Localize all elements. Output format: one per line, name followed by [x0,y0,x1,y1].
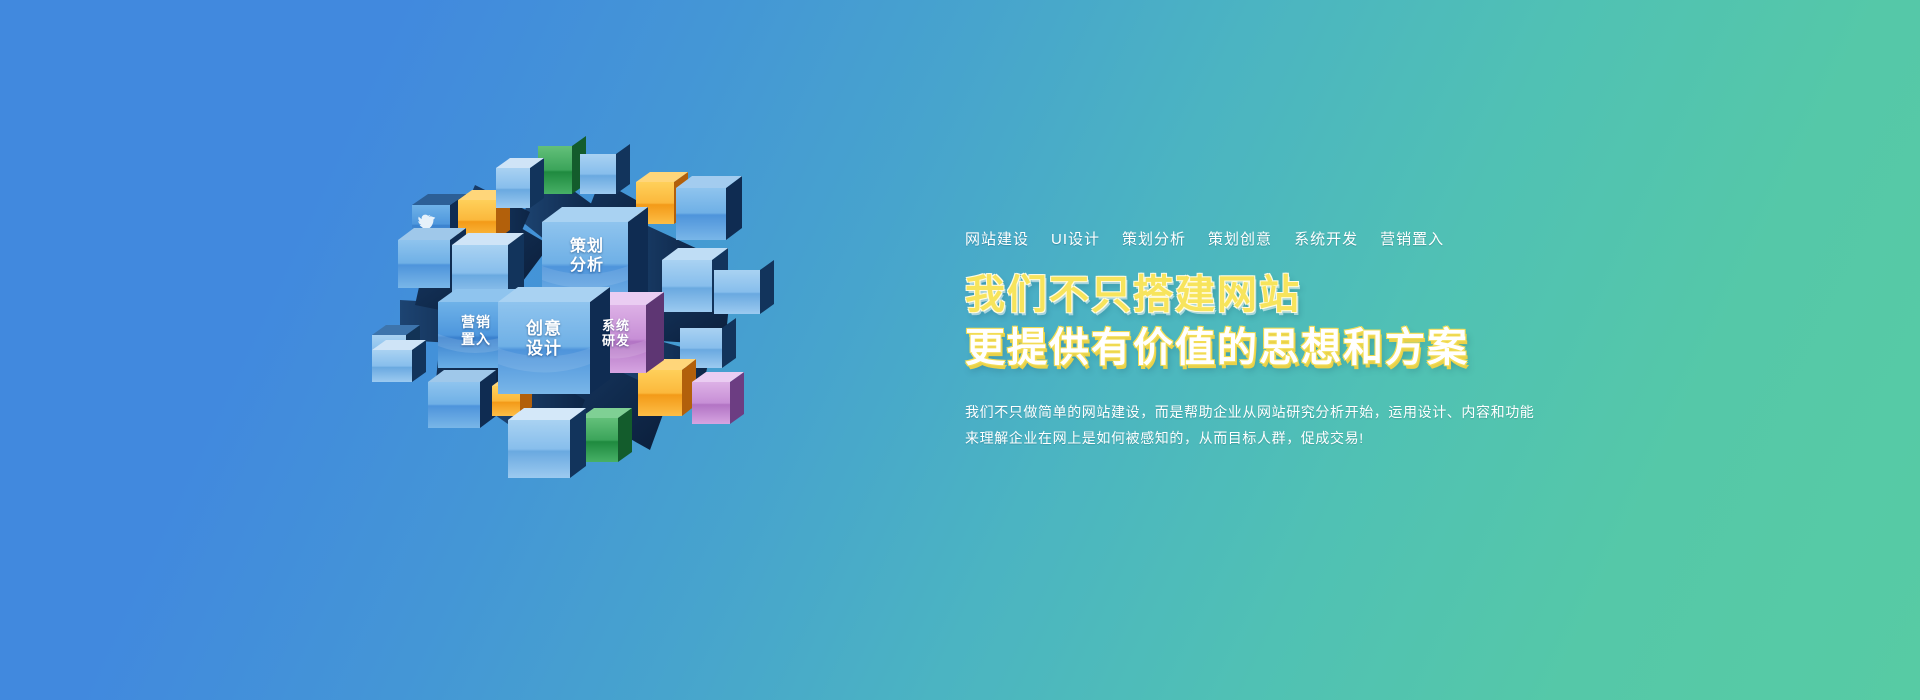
pale-cube-upper-right [580,144,630,194]
nav-item-yingxiao-zhiru[interactable]: 营销置入 [1380,232,1444,247]
hero-banner: t [0,0,1920,700]
nav-item-xitong-kaifa[interactable]: 系统开发 [1294,232,1358,247]
cube-chuangyi-sheji [498,287,610,394]
description-line-1: 我们不只做简单的网站建设，而是帮助企业从网站研究分析开始，运用设计、内容和功能 [965,399,1765,425]
pale-cube-bottom-center [508,408,586,478]
exploding-cubes-illustration: t [370,150,790,510]
headline: 我们不只搭建网站 更提供有价值的思想和方案 [965,273,1765,371]
headline-line-2: 更提供有价值的思想和方案 [965,326,1765,371]
nav-item-cehua-chuangyi[interactable]: 策划创意 [1208,232,1272,247]
hero-content: 网站建设 UI设计 策划分析 策划创意 系统开发 营销置入 我们不只搭建网站 更… [965,232,1765,451]
blue-cube-bottom-left [428,370,496,428]
nav-item-ui-design[interactable]: UI设计 [1051,232,1100,247]
headline-line-1: 我们不只搭建网站 [965,273,1765,318]
service-nav: 网站建设 UI设计 策划分析 策划创意 系统开发 营销置入 [965,232,1765,247]
nav-item-wangzhanjianshe[interactable]: 网站建设 [965,232,1029,247]
green-cube-top [538,136,586,194]
blue-cube-lower-left [372,340,426,382]
description: 我们不只做简单的网站建设，而是帮助企业从网站研究分析开始，运用设计、内容和功能 … [965,399,1765,451]
pale-cube-top [496,158,544,208]
nav-item-cehua-fenxi[interactable]: 策划分析 [1122,232,1186,247]
description-line-2: 来理解企业在网上是如何被感知的，从而目标人群，促成交易! [965,425,1765,451]
purple-cube-bottom-right [692,372,744,424]
blue-cube-far-right [676,176,742,240]
green-cube-bottom [580,408,632,462]
